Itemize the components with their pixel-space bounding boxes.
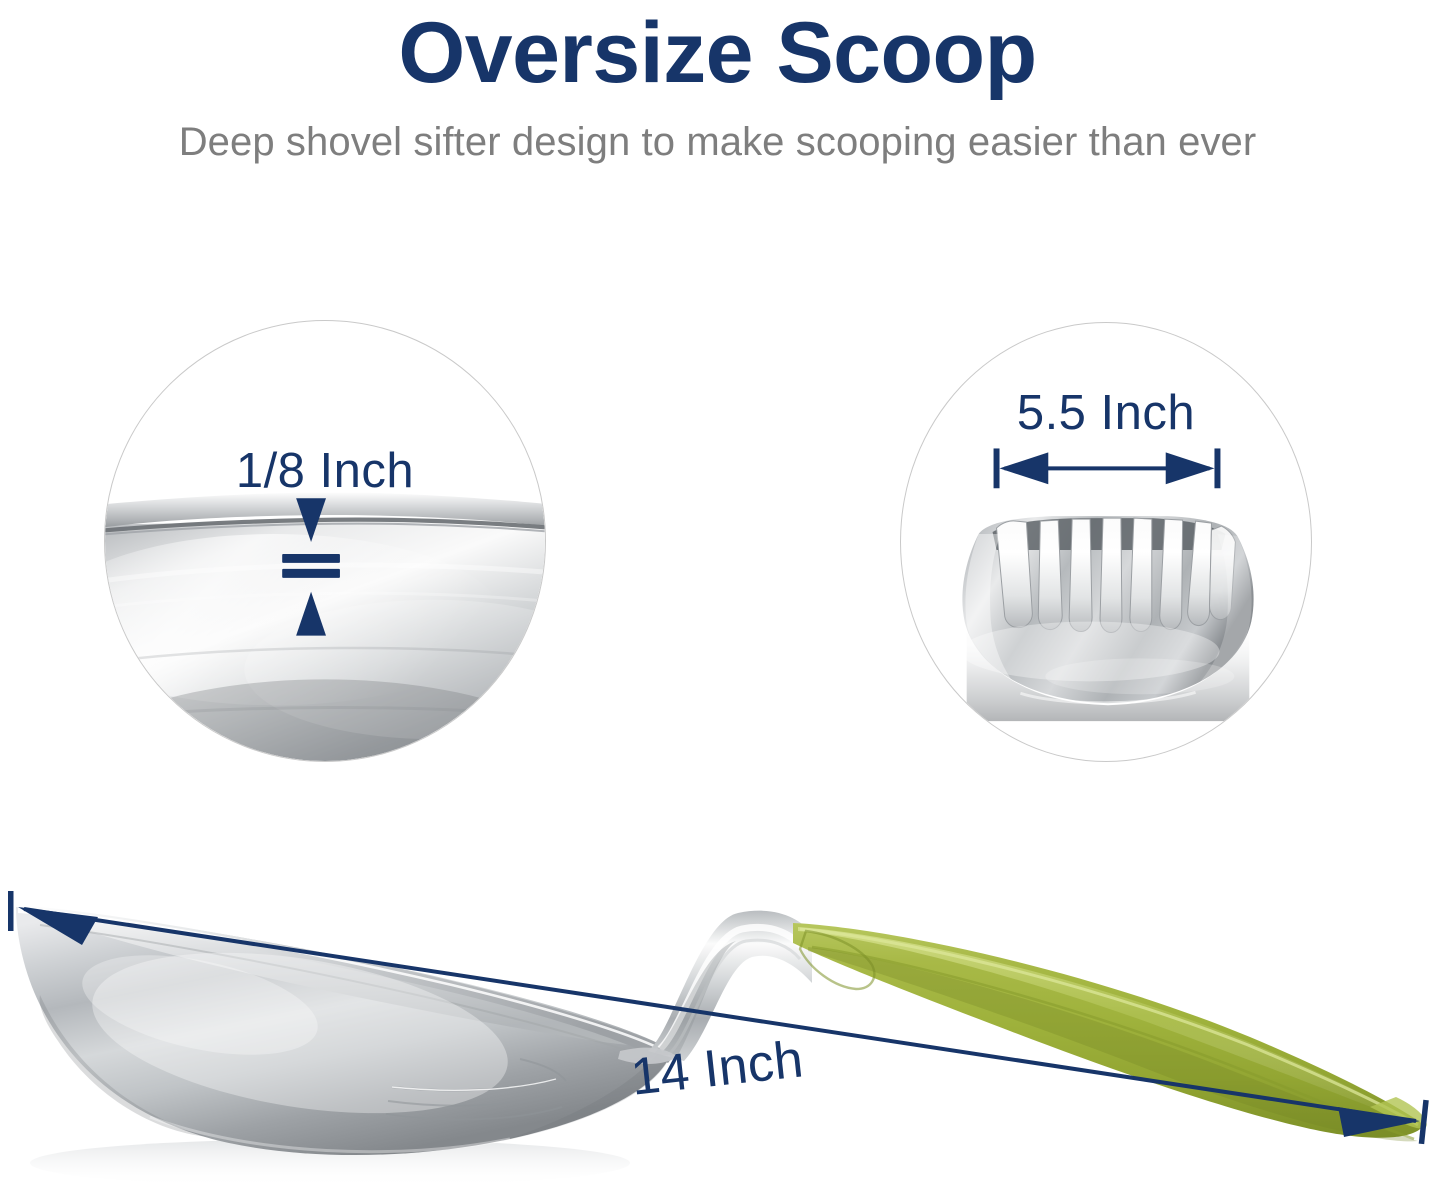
sifter-head-photo (961, 516, 1254, 721)
scoop-illustration (0, 855, 1435, 1190)
page-title: Oversize Scoop (0, 0, 1435, 98)
scoop-bowl (16, 905, 676, 1155)
callout-circle-thickness: 1/8 Inch (104, 320, 546, 762)
callout-circle-width: 5.5 Inch (900, 322, 1312, 762)
product-infographic-page: Oversize Scoop Deep shovel sifter design… (0, 0, 1435, 1190)
sifter-head-illustration (901, 323, 1311, 761)
header: Oversize Scoop Deep shovel sifter design… (0, 0, 1435, 164)
product-photo (0, 855, 1435, 1190)
metal-edge-photo (105, 492, 545, 761)
page-subtitle: Deep shovel sifter design to make scoopi… (0, 98, 1435, 164)
double-headed-arrow-icon (994, 448, 1221, 488)
thickness-detail-illustration (105, 321, 545, 761)
